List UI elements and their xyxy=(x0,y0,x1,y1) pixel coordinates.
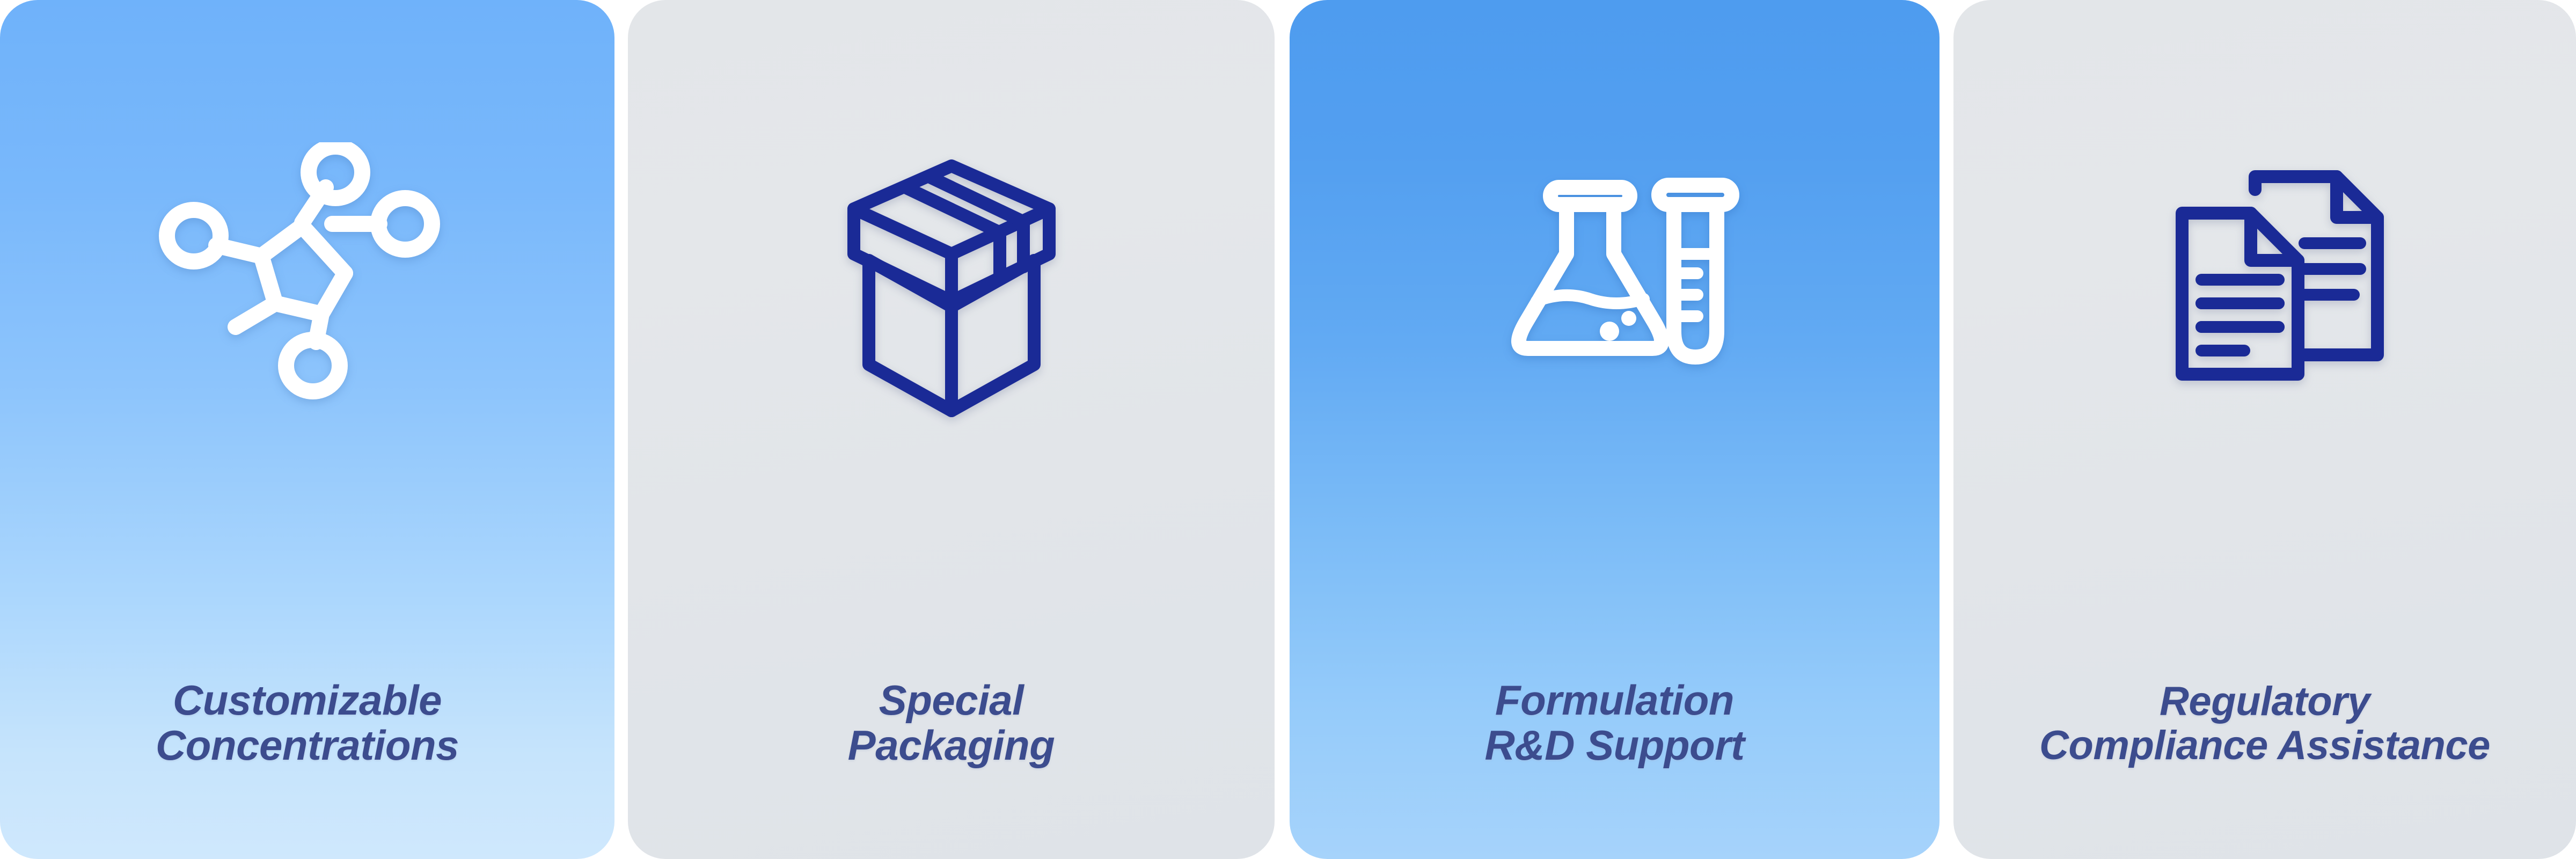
card-label: Regulatory Compliance Assistance xyxy=(1953,680,2576,768)
feature-card-special-packaging[interactable]: Special Packaging xyxy=(628,0,1275,859)
molecule-icon xyxy=(0,0,614,585)
feature-card-customizable-concentrations[interactable]: Customizable Concentrations xyxy=(0,0,614,859)
feature-card-formulation-rd-support[interactable]: Formulation R&D Support xyxy=(1290,0,1940,859)
card-label: Customizable Concentrations xyxy=(0,678,614,768)
feature-card-regulatory-compliance-assistance[interactable]: Regulatory Compliance Assistance xyxy=(1953,0,2576,859)
feature-card-row: Customizable Concentrations xyxy=(0,0,2576,859)
documents-icon xyxy=(1953,0,2576,585)
card-label: Special Packaging xyxy=(628,678,1275,768)
flask-test-tube-icon xyxy=(1290,0,1940,585)
package-box-icon xyxy=(628,0,1275,585)
card-label: Formulation R&D Support xyxy=(1290,678,1940,768)
